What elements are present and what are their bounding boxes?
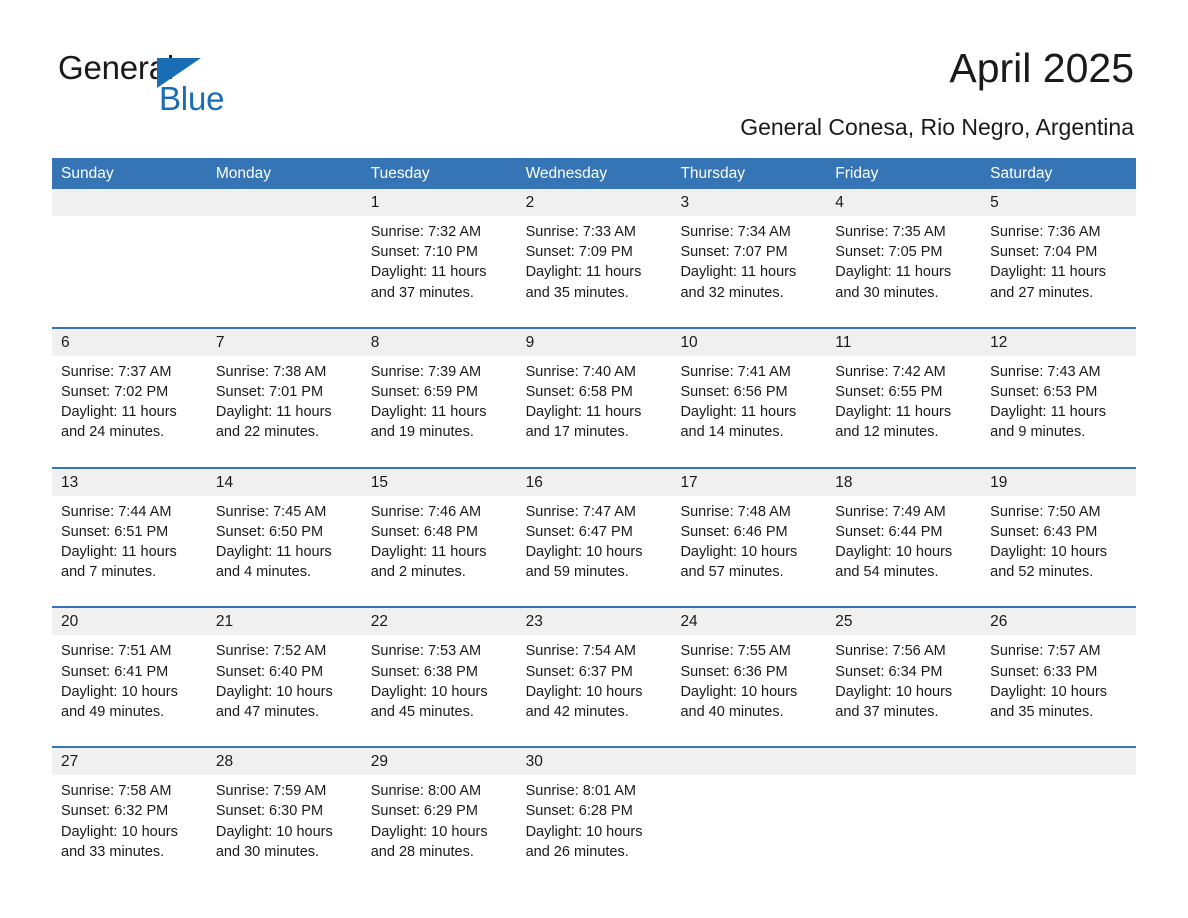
day-details: Sunrise: 7:34 AMSunset: 7:07 PMDaylight:… <box>671 216 826 313</box>
daylight-text-line1: Daylight: 10 hours <box>990 542 1127 562</box>
sunset-text: Sunset: 6:41 PM <box>61 662 198 682</box>
sunrise-text: Sunrise: 7:40 AM <box>526 362 663 382</box>
sunset-text: Sunset: 6:38 PM <box>371 662 508 682</box>
sunrise-text: Sunrise: 7:47 AM <box>526 502 663 522</box>
daylight-text-line2: and 2 minutes. <box>371 562 508 582</box>
sunset-text: Sunset: 6:28 PM <box>526 801 663 821</box>
sunset-text: Sunset: 6:34 PM <box>835 662 972 682</box>
day-details: Sunrise: 7:56 AMSunset: 6:34 PMDaylight:… <box>826 635 981 732</box>
day-details: Sunrise: 7:40 AMSunset: 6:58 PMDaylight:… <box>517 356 672 453</box>
calendar-weeks: 1Sunrise: 7:32 AMSunset: 7:10 PMDaylight… <box>52 189 1136 872</box>
sunset-text: Sunset: 6:36 PM <box>680 662 817 682</box>
daylight-text-line1: Daylight: 10 hours <box>371 682 508 702</box>
calendar-grid: Sunday Monday Tuesday Wednesday Thursday… <box>52 158 1136 872</box>
day-details: Sunrise: 7:44 AMSunset: 6:51 PMDaylight:… <box>52 496 207 593</box>
day-details: Sunrise: 7:32 AMSunset: 7:10 PMDaylight:… <box>362 216 517 313</box>
sunrise-text: Sunrise: 7:43 AM <box>990 362 1127 382</box>
daylight-text-line2: and 49 minutes. <box>61 702 198 722</box>
day-details: Sunrise: 8:00 AMSunset: 6:29 PMDaylight:… <box>362 775 517 872</box>
daylight-text-line2: and 14 minutes. <box>680 422 817 442</box>
day-details: Sunrise: 7:43 AMSunset: 6:53 PMDaylight:… <box>981 356 1136 453</box>
day-number: 27 <box>52 748 207 775</box>
weekday-header-row: Sunday Monday Tuesday Wednesday Thursday… <box>52 158 1136 189</box>
calendar-day-cell[interactable]: 8Sunrise: 7:39 AMSunset: 6:59 PMDaylight… <box>362 329 517 453</box>
day-number: 15 <box>362 469 517 496</box>
daylight-text-line1: Daylight: 10 hours <box>526 682 663 702</box>
daylight-text-line1: Daylight: 10 hours <box>680 542 817 562</box>
day-number: 6 <box>52 329 207 356</box>
day-details: Sunrise: 7:33 AMSunset: 7:09 PMDaylight:… <box>517 216 672 313</box>
sunset-text: Sunset: 6:58 PM <box>526 382 663 402</box>
sunrise-text: Sunrise: 7:57 AM <box>990 641 1127 661</box>
day-number: 10 <box>671 329 826 356</box>
sunrise-text: Sunrise: 7:54 AM <box>526 641 663 661</box>
daylight-text-line1: Daylight: 11 hours <box>371 402 508 422</box>
sunrise-text: Sunrise: 7:33 AM <box>526 222 663 242</box>
day-details <box>826 775 981 855</box>
sunset-text: Sunset: 6:29 PM <box>371 801 508 821</box>
sunset-text: Sunset: 7:01 PM <box>216 382 353 402</box>
general-blue-logo: General Blue <box>58 50 288 118</box>
day-details: Sunrise: 7:52 AMSunset: 6:40 PMDaylight:… <box>207 635 362 732</box>
sunset-text: Sunset: 6:56 PM <box>680 382 817 402</box>
sunrise-text: Sunrise: 7:49 AM <box>835 502 972 522</box>
daylight-text-line1: Daylight: 10 hours <box>216 822 353 842</box>
calendar-day-cell[interactable]: 28Sunrise: 7:59 AMSunset: 6:30 PMDayligh… <box>207 748 362 872</box>
daylight-text-line1: Daylight: 10 hours <box>990 682 1127 702</box>
day-number: 8 <box>362 329 517 356</box>
day-number: 2 <box>517 189 672 216</box>
weekday-header-friday: Friday <box>826 158 981 189</box>
calendar-day-cell[interactable]: 18Sunrise: 7:49 AMSunset: 6:44 PMDayligh… <box>826 469 981 593</box>
day-details: Sunrise: 7:37 AMSunset: 7:02 PMDaylight:… <box>52 356 207 453</box>
day-details <box>671 775 826 855</box>
day-details: Sunrise: 8:01 AMSunset: 6:28 PMDaylight:… <box>517 775 672 872</box>
daylight-text-line1: Daylight: 10 hours <box>61 822 198 842</box>
calendar-page: General Blue April 2025 General Conesa, … <box>0 0 1188 918</box>
sunrise-text: Sunrise: 7:58 AM <box>61 781 198 801</box>
sunset-text: Sunset: 6:43 PM <box>990 522 1127 542</box>
sunrise-text: Sunrise: 8:00 AM <box>371 781 508 801</box>
daylight-text-line1: Daylight: 11 hours <box>526 262 663 282</box>
day-details: Sunrise: 7:48 AMSunset: 6:46 PMDaylight:… <box>671 496 826 593</box>
daylight-text-line2: and 4 minutes. <box>216 562 353 582</box>
sunset-text: Sunset: 6:33 PM <box>990 662 1127 682</box>
day-number: 29 <box>362 748 517 775</box>
daylight-text-line1: Daylight: 11 hours <box>835 262 972 282</box>
week-spacer <box>52 453 1136 467</box>
daylight-text-line2: and 30 minutes. <box>216 842 353 862</box>
daylight-text-line1: Daylight: 11 hours <box>680 262 817 282</box>
calendar-day-cell[interactable]: 17Sunrise: 7:48 AMSunset: 6:46 PMDayligh… <box>671 469 826 593</box>
day-details: Sunrise: 7:55 AMSunset: 6:36 PMDaylight:… <box>671 635 826 732</box>
calendar-week-row: 13Sunrise: 7:44 AMSunset: 6:51 PMDayligh… <box>52 467 1136 593</box>
calendar-day-cell-empty <box>826 748 981 872</box>
day-number: 12 <box>981 329 1136 356</box>
daylight-text-line1: Daylight: 11 hours <box>216 542 353 562</box>
day-number: 21 <box>207 608 362 635</box>
daylight-text-line2: and 54 minutes. <box>835 562 972 582</box>
sunset-text: Sunset: 6:59 PM <box>371 382 508 402</box>
day-details: Sunrise: 7:59 AMSunset: 6:30 PMDaylight:… <box>207 775 362 872</box>
day-details: Sunrise: 7:45 AMSunset: 6:50 PMDaylight:… <box>207 496 362 593</box>
day-number <box>671 748 826 775</box>
calendar-day-cell-empty <box>52 189 207 313</box>
week-spacer <box>52 313 1136 327</box>
sunrise-text: Sunrise: 7:42 AM <box>835 362 972 382</box>
sunset-text: Sunset: 7:09 PM <box>526 242 663 262</box>
day-details: Sunrise: 7:35 AMSunset: 7:05 PMDaylight:… <box>826 216 981 313</box>
sunrise-text: Sunrise: 7:44 AM <box>61 502 198 522</box>
day-number: 16 <box>517 469 672 496</box>
daylight-text-line1: Daylight: 11 hours <box>61 542 198 562</box>
daylight-text-line2: and 35 minutes. <box>990 702 1127 722</box>
sunrise-text: Sunrise: 7:50 AM <box>990 502 1127 522</box>
daylight-text-line1: Daylight: 11 hours <box>990 402 1127 422</box>
calendar-day-cell[interactable]: 22Sunrise: 7:53 AMSunset: 6:38 PMDayligh… <box>362 608 517 732</box>
day-number: 7 <box>207 329 362 356</box>
calendar-day-cell[interactable]: 14Sunrise: 7:45 AMSunset: 6:50 PMDayligh… <box>207 469 362 593</box>
sunset-text: Sunset: 6:40 PM <box>216 662 353 682</box>
sunrise-text: Sunrise: 7:38 AM <box>216 362 353 382</box>
daylight-text-line2: and 28 minutes. <box>371 842 508 862</box>
calendar-day-cell[interactable]: 4Sunrise: 7:35 AMSunset: 7:05 PMDaylight… <box>826 189 981 313</box>
sunset-text: Sunset: 7:07 PM <box>680 242 817 262</box>
sunrise-text: Sunrise: 8:01 AM <box>526 781 663 801</box>
day-details: Sunrise: 7:41 AMSunset: 6:56 PMDaylight:… <box>671 356 826 453</box>
calendar-day-cell[interactable]: 11Sunrise: 7:42 AMSunset: 6:55 PMDayligh… <box>826 329 981 453</box>
sunset-text: Sunset: 6:32 PM <box>61 801 198 821</box>
day-details: Sunrise: 7:51 AMSunset: 6:41 PMDaylight:… <box>52 635 207 732</box>
sunrise-text: Sunrise: 7:36 AM <box>990 222 1127 242</box>
daylight-text-line2: and 19 minutes. <box>371 422 508 442</box>
calendar-day-cell[interactable]: 20Sunrise: 7:51 AMSunset: 6:41 PMDayligh… <box>52 608 207 732</box>
daylight-text-line2: and 22 minutes. <box>216 422 353 442</box>
day-details: Sunrise: 7:57 AMSunset: 6:33 PMDaylight:… <box>981 635 1136 732</box>
daylight-text-line2: and 35 minutes. <box>526 283 663 303</box>
day-number: 28 <box>207 748 362 775</box>
day-details: Sunrise: 7:38 AMSunset: 7:01 PMDaylight:… <box>207 356 362 453</box>
sunset-text: Sunset: 6:44 PM <box>835 522 972 542</box>
daylight-text-line2: and 59 minutes. <box>526 562 663 582</box>
weekday-header-monday: Monday <box>207 158 362 189</box>
day-number: 20 <box>52 608 207 635</box>
daylight-text-line2: and 52 minutes. <box>990 562 1127 582</box>
daylight-text-line2: and 37 minutes. <box>371 283 508 303</box>
day-number: 11 <box>826 329 981 356</box>
daylight-text-line2: and 42 minutes. <box>526 702 663 722</box>
calendar-day-cell[interactable]: 23Sunrise: 7:54 AMSunset: 6:37 PMDayligh… <box>517 608 672 732</box>
sunrise-text: Sunrise: 7:48 AM <box>680 502 817 522</box>
sunrise-text: Sunrise: 7:51 AM <box>61 641 198 661</box>
calendar-day-cell-empty <box>671 748 826 872</box>
daylight-text-line1: Daylight: 11 hours <box>371 262 508 282</box>
calendar-day-cell[interactable]: 24Sunrise: 7:55 AMSunset: 6:36 PMDayligh… <box>671 608 826 732</box>
calendar-day-cell[interactable]: 2Sunrise: 7:33 AMSunset: 7:09 PMDaylight… <box>517 189 672 313</box>
weekday-header-sunday: Sunday <box>52 158 207 189</box>
sunset-text: Sunset: 6:30 PM <box>216 801 353 821</box>
sunrise-text: Sunrise: 7:55 AM <box>680 641 817 661</box>
sunset-text: Sunset: 6:46 PM <box>680 522 817 542</box>
daylight-text-line2: and 9 minutes. <box>990 422 1127 442</box>
day-details: Sunrise: 7:36 AMSunset: 7:04 PMDaylight:… <box>981 216 1136 313</box>
daylight-text-line2: and 57 minutes. <box>680 562 817 582</box>
week-spacer <box>52 592 1136 606</box>
calendar-day-cell[interactable]: 26Sunrise: 7:57 AMSunset: 6:33 PMDayligh… <box>981 608 1136 732</box>
daylight-text-line1: Daylight: 11 hours <box>216 402 353 422</box>
calendar-day-cell[interactable]: 19Sunrise: 7:50 AMSunset: 6:43 PMDayligh… <box>981 469 1136 593</box>
daylight-text-line1: Daylight: 11 hours <box>371 542 508 562</box>
calendar-day-cell[interactable]: 27Sunrise: 7:58 AMSunset: 6:32 PMDayligh… <box>52 748 207 872</box>
daylight-text-line2: and 27 minutes. <box>990 283 1127 303</box>
day-number: 5 <box>981 189 1136 216</box>
calendar-day-cell[interactable]: 1Sunrise: 7:32 AMSunset: 7:10 PMDaylight… <box>362 189 517 313</box>
daylight-text-line1: Daylight: 10 hours <box>371 822 508 842</box>
day-number: 9 <box>517 329 672 356</box>
sunrise-text: Sunrise: 7:59 AM <box>216 781 353 801</box>
day-number: 24 <box>671 608 826 635</box>
sunset-text: Sunset: 7:02 PM <box>61 382 198 402</box>
day-number: 23 <box>517 608 672 635</box>
day-number: 18 <box>826 469 981 496</box>
calendar-day-cell-empty <box>207 189 362 313</box>
calendar-day-cell[interactable]: 15Sunrise: 7:46 AMSunset: 6:48 PMDayligh… <box>362 469 517 593</box>
sunrise-text: Sunrise: 7:35 AM <box>835 222 972 242</box>
daylight-text-line1: Daylight: 11 hours <box>990 262 1127 282</box>
day-details: Sunrise: 7:53 AMSunset: 6:38 PMDaylight:… <box>362 635 517 732</box>
sunset-text: Sunset: 6:47 PM <box>526 522 663 542</box>
sunrise-text: Sunrise: 7:37 AM <box>61 362 198 382</box>
daylight-text-line1: Daylight: 10 hours <box>680 682 817 702</box>
sunset-text: Sunset: 7:04 PM <box>990 242 1127 262</box>
weekday-header-thursday: Thursday <box>671 158 826 189</box>
sunrise-text: Sunrise: 7:45 AM <box>216 502 353 522</box>
daylight-text-line2: and 32 minutes. <box>680 283 817 303</box>
calendar-week-row: 27Sunrise: 7:58 AMSunset: 6:32 PMDayligh… <box>52 746 1136 872</box>
logo-text-blue: Blue <box>159 81 224 117</box>
daylight-text-line2: and 37 minutes. <box>835 702 972 722</box>
day-number: 14 <box>207 469 362 496</box>
daylight-text-line2: and 40 minutes. <box>680 702 817 722</box>
sunrise-text: Sunrise: 7:32 AM <box>371 222 508 242</box>
calendar-day-cell[interactable]: 21Sunrise: 7:52 AMSunset: 6:40 PMDayligh… <box>207 608 362 732</box>
day-details: Sunrise: 7:42 AMSunset: 6:55 PMDaylight:… <box>826 356 981 453</box>
calendar-day-cell[interactable]: 5Sunrise: 7:36 AMSunset: 7:04 PMDaylight… <box>981 189 1136 313</box>
page-header: General Blue April 2025 General Conesa, … <box>0 0 1188 110</box>
calendar-day-cell[interactable]: 7Sunrise: 7:38 AMSunset: 7:01 PMDaylight… <box>207 329 362 453</box>
day-details <box>52 216 207 296</box>
calendar-day-cell[interactable]: 3Sunrise: 7:34 AMSunset: 7:07 PMDaylight… <box>671 189 826 313</box>
sunset-text: Sunset: 6:55 PM <box>835 382 972 402</box>
daylight-text-line1: Daylight: 10 hours <box>61 682 198 702</box>
daylight-text-line1: Daylight: 11 hours <box>680 402 817 422</box>
page-subtitle-location: General Conesa, Rio Negro, Argentina <box>740 113 1134 141</box>
sunset-text: Sunset: 7:10 PM <box>371 242 508 262</box>
daylight-text-line1: Daylight: 10 hours <box>216 682 353 702</box>
daylight-text-line2: and 17 minutes. <box>526 422 663 442</box>
calendar-week-row: 1Sunrise: 7:32 AMSunset: 7:10 PMDaylight… <box>52 189 1136 313</box>
calendar-week-row: 6Sunrise: 7:37 AMSunset: 7:02 PMDaylight… <box>52 327 1136 453</box>
sunrise-text: Sunrise: 7:39 AM <box>371 362 508 382</box>
weekday-header-saturday: Saturday <box>981 158 1136 189</box>
calendar-day-cell-empty <box>981 748 1136 872</box>
day-details <box>207 216 362 296</box>
calendar-day-cell[interactable]: 30Sunrise: 8:01 AMSunset: 6:28 PMDayligh… <box>517 748 672 872</box>
day-number: 22 <box>362 608 517 635</box>
sunrise-text: Sunrise: 7:56 AM <box>835 641 972 661</box>
week-spacer <box>52 732 1136 746</box>
daylight-text-line1: Daylight: 10 hours <box>835 682 972 702</box>
day-number: 17 <box>671 469 826 496</box>
daylight-text-line1: Daylight: 10 hours <box>526 542 663 562</box>
calendar-day-cell[interactable]: 25Sunrise: 7:56 AMSunset: 6:34 PMDayligh… <box>826 608 981 732</box>
calendar-day-cell[interactable]: 10Sunrise: 7:41 AMSunset: 6:56 PMDayligh… <box>671 329 826 453</box>
sunrise-text: Sunrise: 7:46 AM <box>371 502 508 522</box>
calendar-day-cell[interactable]: 29Sunrise: 8:00 AMSunset: 6:29 PMDayligh… <box>362 748 517 872</box>
page-title: April 2025 <box>949 44 1134 92</box>
day-number: 1 <box>362 189 517 216</box>
day-number <box>52 189 207 216</box>
day-details: Sunrise: 7:46 AMSunset: 6:48 PMDaylight:… <box>362 496 517 593</box>
weekday-header-wednesday: Wednesday <box>517 158 672 189</box>
day-details: Sunrise: 7:50 AMSunset: 6:43 PMDaylight:… <box>981 496 1136 593</box>
calendar-day-cell[interactable]: 12Sunrise: 7:43 AMSunset: 6:53 PMDayligh… <box>981 329 1136 453</box>
day-details: Sunrise: 7:39 AMSunset: 6:59 PMDaylight:… <box>362 356 517 453</box>
calendar-day-cell[interactable]: 13Sunrise: 7:44 AMSunset: 6:51 PMDayligh… <box>52 469 207 593</box>
day-number: 13 <box>52 469 207 496</box>
calendar-week-row: 20Sunrise: 7:51 AMSunset: 6:41 PMDayligh… <box>52 606 1136 732</box>
day-details: Sunrise: 7:47 AMSunset: 6:47 PMDaylight:… <box>517 496 672 593</box>
daylight-text-line2: and 24 minutes. <box>61 422 198 442</box>
day-number: 3 <box>671 189 826 216</box>
sunset-text: Sunset: 6:48 PM <box>371 522 508 542</box>
daylight-text-line1: Daylight: 11 hours <box>835 402 972 422</box>
sunset-text: Sunset: 7:05 PM <box>835 242 972 262</box>
day-number: 26 <box>981 608 1136 635</box>
sunset-text: Sunset: 6:37 PM <box>526 662 663 682</box>
day-details: Sunrise: 7:54 AMSunset: 6:37 PMDaylight:… <box>517 635 672 732</box>
day-details <box>981 775 1136 855</box>
daylight-text-line1: Daylight: 11 hours <box>526 402 663 422</box>
sunrise-text: Sunrise: 7:41 AM <box>680 362 817 382</box>
calendar-day-cell[interactable]: 6Sunrise: 7:37 AMSunset: 7:02 PMDaylight… <box>52 329 207 453</box>
day-number <box>207 189 362 216</box>
day-details: Sunrise: 7:49 AMSunset: 6:44 PMDaylight:… <box>826 496 981 593</box>
sunrise-text: Sunrise: 7:53 AM <box>371 641 508 661</box>
day-details: Sunrise: 7:58 AMSunset: 6:32 PMDaylight:… <box>52 775 207 872</box>
daylight-text-line2: and 30 minutes. <box>835 283 972 303</box>
day-number: 4 <box>826 189 981 216</box>
calendar-day-cell[interactable]: 9Sunrise: 7:40 AMSunset: 6:58 PMDaylight… <box>517 329 672 453</box>
day-number <box>826 748 981 775</box>
day-number <box>981 748 1136 775</box>
daylight-text-line2: and 26 minutes. <box>526 842 663 862</box>
day-number: 19 <box>981 469 1136 496</box>
day-number: 30 <box>517 748 672 775</box>
calendar-day-cell[interactable]: 16Sunrise: 7:47 AMSunset: 6:47 PMDayligh… <box>517 469 672 593</box>
sunset-text: Sunset: 6:51 PM <box>61 522 198 542</box>
daylight-text-line2: and 47 minutes. <box>216 702 353 722</box>
daylight-text-line2: and 45 minutes. <box>371 702 508 722</box>
sunrise-text: Sunrise: 7:34 AM <box>680 222 817 242</box>
daylight-text-line1: Daylight: 11 hours <box>61 402 198 422</box>
sunset-text: Sunset: 6:53 PM <box>990 382 1127 402</box>
weekday-header-tuesday: Tuesday <box>362 158 517 189</box>
daylight-text-line1: Daylight: 10 hours <box>835 542 972 562</box>
sunrise-text: Sunrise: 7:52 AM <box>216 641 353 661</box>
daylight-text-line2: and 7 minutes. <box>61 562 198 582</box>
daylight-text-line2: and 12 minutes. <box>835 422 972 442</box>
daylight-text-line1: Daylight: 10 hours <box>526 822 663 842</box>
sunset-text: Sunset: 6:50 PM <box>216 522 353 542</box>
daylight-text-line2: and 33 minutes. <box>61 842 198 862</box>
day-number: 25 <box>826 608 981 635</box>
